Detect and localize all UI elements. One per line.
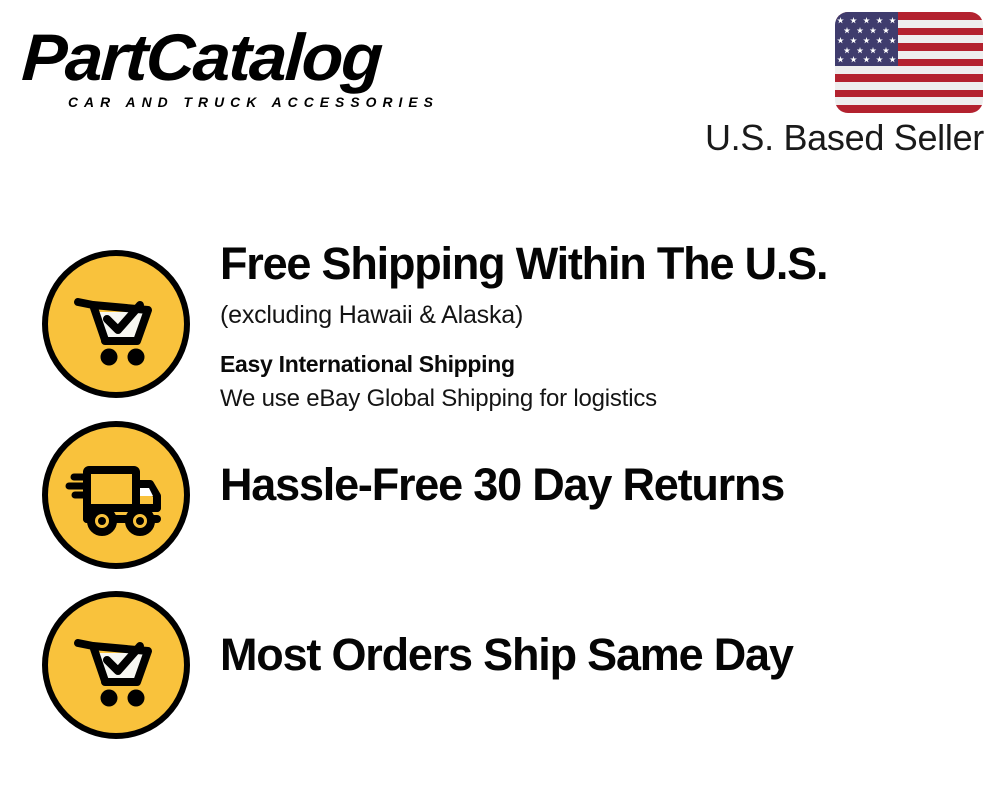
- banner-header: PartCatalog CAR AND TRUCK ACCESSORIES: [0, 0, 1000, 175]
- delivery-truck-icon: [42, 421, 190, 569]
- partcatalog-logo: PartCatalog CAR AND TRUCK ACCESSORIES: [24, 22, 494, 122]
- shopping-cart-check-icon: [42, 591, 190, 739]
- feature-sub-note: We use eBay Global Shipping for logistic…: [220, 383, 1000, 414]
- feature-item-free-shipping: Free Shipping Within The U.S. (excluding…: [0, 238, 1000, 414]
- feature-title: Free Shipping Within The U.S.: [220, 238, 1000, 290]
- brand-wordmark: PartCatalog: [20, 22, 508, 92]
- feature-note: (excluding Hawaii & Alaska): [220, 299, 1000, 331]
- promo-banner: PartCatalog CAR AND TRUCK ACCESSORIES: [0, 0, 1000, 800]
- feature-item-same-day-ship: Most Orders Ship Same Day: [0, 584, 1000, 754]
- us-based-seller-label: U.S. Based Seller: [705, 116, 984, 160]
- feature-item-returns: Hassle-Free 30 Day Returns: [0, 414, 1000, 584]
- feature-text-block: Free Shipping Within The U.S. (excluding…: [190, 238, 1000, 414]
- us-flag-icon: [835, 12, 983, 113]
- feature-text-block: Most Orders Ship Same Day: [190, 584, 1000, 681]
- feature-list: Free Shipping Within The U.S. (excluding…: [0, 238, 1000, 754]
- brand-tagline: CAR AND TRUCK ACCESSORIES: [68, 94, 490, 110]
- feature-text-block: Hassle-Free 30 Day Returns: [190, 414, 1000, 511]
- flag-canton: [835, 12, 898, 66]
- feature-sub-title: Easy International Shipping: [220, 349, 1000, 379]
- feature-title: Most Orders Ship Same Day: [220, 629, 1000, 681]
- shopping-cart-check-icon: [42, 250, 190, 398]
- feature-title: Hassle-Free 30 Day Returns: [220, 459, 1000, 511]
